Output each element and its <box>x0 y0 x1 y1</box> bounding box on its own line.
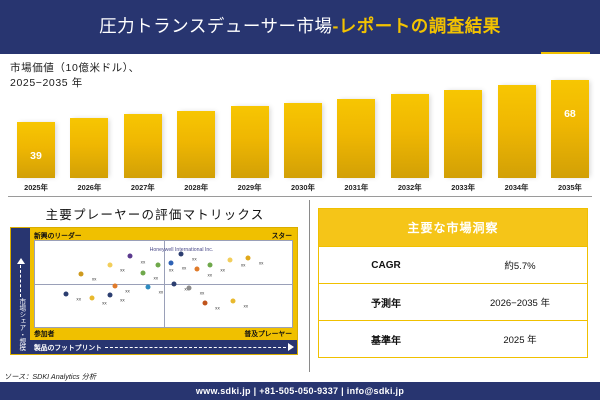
insights-row-key: 基準年 <box>319 332 453 347</box>
quadrant-label-pervasive: 普及プレーヤー <box>244 328 292 338</box>
bar-column: 2034年 <box>495 58 539 178</box>
lower-section: 主要プレーヤーの評価マトリックス 市場シェア・規模 新興のリーダー スター 参加… <box>0 196 600 372</box>
matrix-point-label: xx <box>182 265 187 270</box>
insights-row-value: 2025 年 <box>453 332 587 346</box>
matrix-data-point <box>63 292 68 297</box>
bar-group: 392025年2026年2027年2028年2029年2030年2031年203… <box>14 58 592 178</box>
infographic-page: 圧力トランスデューサー市場-レポートの調査結果 市場価値（10億米ドル）、 20… <box>0 0 600 400</box>
bar-category-label: 2035年 <box>548 182 592 193</box>
matrix-y-axis: 市場シェア・規模 <box>11 228 30 354</box>
matrix-data-point <box>228 257 233 262</box>
matrix-data-point <box>146 284 151 289</box>
matrix-data-point <box>207 263 212 268</box>
bar <box>444 90 482 178</box>
matrix-data-point <box>112 283 117 288</box>
key-insights-table: 主要な市場洞察 CAGR約5.7%予測年2026−2035 年基準年2025 年 <box>318 208 588 358</box>
bar-value-label: 39 <box>17 150 55 162</box>
bar-category-label: 2031年 <box>334 182 378 193</box>
player-matrix-panel: 主要プレーヤーの評価マトリックス 市場シェア・規模 新興のリーダー スター 参加… <box>6 200 304 364</box>
bar <box>284 103 322 178</box>
page-title-main: 圧力トランスデューサー市場 <box>99 16 332 36</box>
matrix-data-point <box>171 282 176 287</box>
bar-value-label: 68 <box>551 108 589 120</box>
matrix-point-label: xx <box>215 306 220 311</box>
bar-category-label: 2027年 <box>121 182 165 193</box>
matrix-data-point <box>156 263 161 268</box>
matrix-data-point <box>89 295 94 300</box>
bar <box>498 85 536 178</box>
page-footer: www.sdki.jp | +81-505-050-9337 | info@sd… <box>0 382 600 400</box>
bar-column: 2033年 <box>441 58 485 178</box>
insights-row: 基準年2025 年 <box>319 320 587 357</box>
bar-column: 682035年 <box>548 58 592 178</box>
insights-row-key: 予測年 <box>319 295 453 310</box>
bar-category-label: 2033年 <box>441 182 485 193</box>
matrix-x-axis-label: 製品のフットプリント <box>34 342 102 352</box>
matrix-point-label: xx <box>241 263 246 268</box>
matrix-point-label: xx <box>153 275 158 280</box>
matrix-y-axis-label: 市場シェア・規模 <box>17 298 24 351</box>
matrix-point-label: xx <box>259 261 264 266</box>
source-note: ソース：SDKI Analytics 分析 <box>4 372 96 382</box>
matrix-point-label: xx <box>243 304 248 309</box>
matrix-data-point <box>140 270 145 275</box>
insights-table-header: 主要な市場洞察 <box>319 209 587 246</box>
market-value-bar-chart: 市場価値（10億米ドル）、 2025−2035 年 392025年2026年20… <box>0 54 600 196</box>
insights-row-key: CAGR <box>319 260 453 271</box>
bar: 39 <box>17 122 55 178</box>
matrix-point-label: xx <box>102 300 107 305</box>
insights-row: CAGR約5.7% <box>319 246 587 283</box>
bar-column: 2028年 <box>174 58 218 178</box>
matrix-data-point <box>202 300 207 305</box>
matrix-point-label: xx <box>220 268 225 273</box>
matrix-data-point <box>107 293 112 298</box>
bar <box>391 94 429 178</box>
bar-category-label: 2030年 <box>281 182 325 193</box>
bar-column: 2027年 <box>121 58 165 178</box>
matrix-data-point <box>187 286 192 291</box>
bar-category-label: 2034年 <box>495 182 539 193</box>
x-axis-dashed-line <box>105 347 286 348</box>
matrix-point-label: xx <box>141 259 146 264</box>
page-title-accent: -レポートの調査結果 <box>332 16 500 36</box>
bar-category-label: 2032年 <box>388 182 432 193</box>
arrow-right-icon <box>288 343 294 351</box>
matrix-inner: 新興のリーダー スター 参加者 普及プレーヤー Honeywell Intern… <box>30 228 297 354</box>
matrix-box: 市場シェア・規模 新興のリーダー スター 参加者 普及プレーヤー Honeywe… <box>10 227 298 355</box>
matrix-point-label: xx <box>92 276 97 281</box>
matrix-point-label: xx <box>120 298 125 303</box>
section-divider-horizontal <box>8 196 592 197</box>
bar-category-label: 2025年 <box>14 182 58 193</box>
matrix-point-label: xx <box>207 272 212 277</box>
bar: 68 <box>551 80 589 178</box>
insights-row-value: 2026−2035 年 <box>453 295 587 309</box>
bar <box>177 111 215 178</box>
insights-rows: CAGR約5.7%予測年2026−2035 年基準年2025 年 <box>319 246 587 357</box>
quadrant-label-participants: 参加者 <box>34 328 54 338</box>
arrow-up-icon <box>17 258 25 264</box>
bar-column: 2030年 <box>281 58 325 178</box>
matrix-data-point <box>169 260 174 265</box>
matrix-data-point <box>230 299 235 304</box>
bar <box>124 114 162 178</box>
matrix-x-axis: 製品のフットプリント <box>30 340 297 354</box>
bar-column: 2032年 <box>388 58 432 178</box>
insights-row: 予測年2026−2035 年 <box>319 283 587 320</box>
insights-row-value: 約5.7% <box>453 258 587 272</box>
plot-horizontal-divider <box>35 284 292 285</box>
bar-category-label: 2028年 <box>174 182 218 193</box>
bar-column: 392025年 <box>14 58 58 178</box>
matrix-data-point <box>246 256 251 261</box>
matrix-scatter-plot: Honeywell International Inc. xxxxxxxxxxx… <box>34 240 293 328</box>
matrix-point-label: xx <box>159 289 164 294</box>
bar <box>70 118 108 178</box>
matrix-point-label: xx <box>192 257 197 262</box>
matrix-data-point <box>128 254 133 259</box>
bar-column: 2029年 <box>228 58 272 178</box>
bar <box>231 106 269 178</box>
quadrant-label-stars: スター <box>272 230 292 240</box>
matrix-data-point <box>107 263 112 268</box>
matrix-point-label: xx <box>125 288 130 293</box>
matrix-point-label: xx <box>169 268 174 273</box>
matrix-point-label: xx <box>120 268 125 273</box>
footer-contact: www.sdki.jp | +81-505-050-9337 | info@sd… <box>196 386 404 396</box>
y-axis-dashed-line <box>20 265 21 297</box>
matrix-point-label: xx <box>76 297 81 302</box>
bar-category-label: 2026年 <box>67 182 111 193</box>
section-divider-vertical <box>309 200 310 372</box>
bar-column: 2026年 <box>67 58 111 178</box>
bar-column: 2031年 <box>334 58 378 178</box>
matrix-data-point <box>179 251 184 256</box>
bar <box>337 99 375 178</box>
page-title: 圧力トランスデューサー市場-レポートの調査結果 <box>99 18 501 36</box>
matrix-title: 主要プレーヤーの評価マトリックス <box>6 204 304 223</box>
bar-category-label: 2029年 <box>228 182 272 193</box>
page-header: 圧力トランスデューサー市場-レポートの調査結果 <box>0 0 600 54</box>
matrix-data-point <box>194 267 199 272</box>
quadrant-label-emerging-leaders: 新興のリーダー <box>34 230 82 240</box>
matrix-data-point <box>79 271 84 276</box>
matrix-point-label: xx <box>200 291 205 296</box>
